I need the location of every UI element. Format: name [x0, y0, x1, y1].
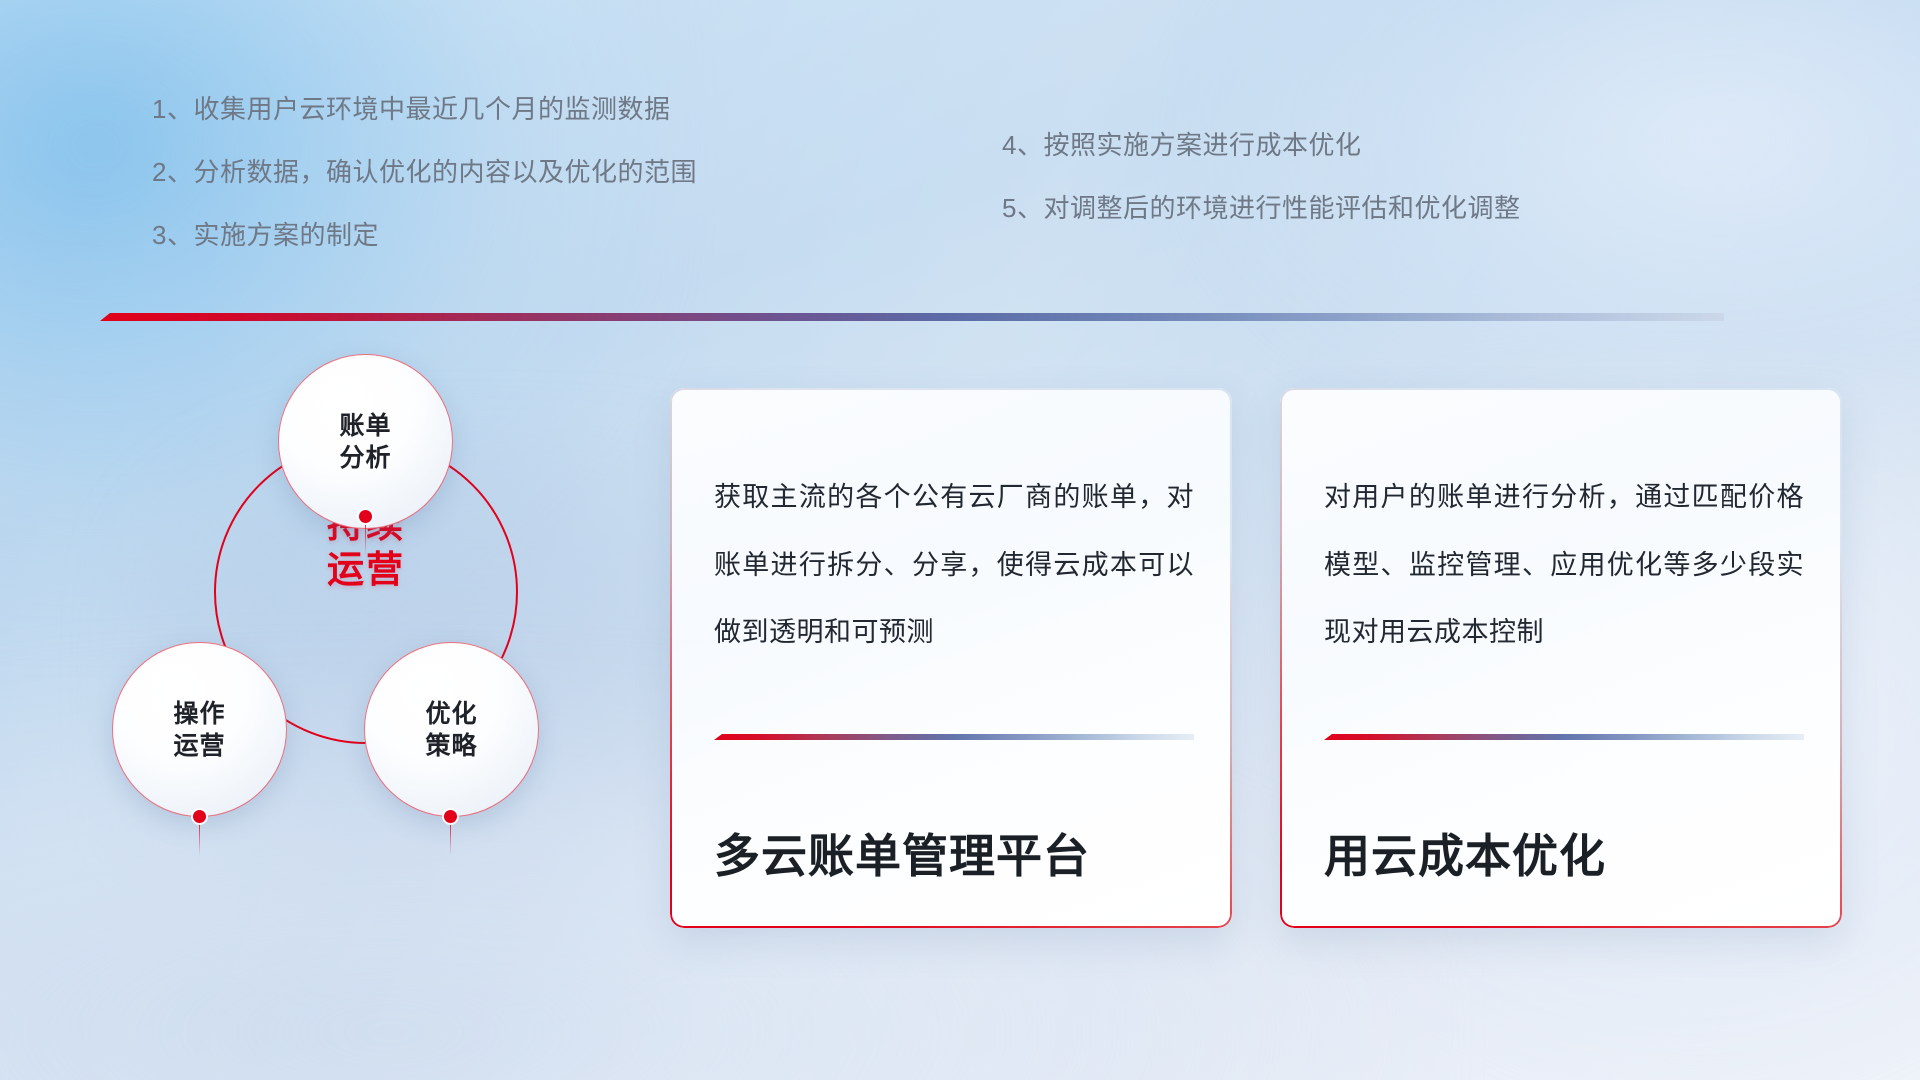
- diagram-node-operations-line-1: 操作: [173, 698, 225, 730]
- diagram-node-optimization-strategy[interactable]: 优化 策略: [364, 642, 539, 817]
- diagram-dot-top: [359, 510, 372, 523]
- step-item-2: 2、分析数据，确认优化的内容以及优化的范围: [152, 159, 697, 185]
- feature-card-1-description: 获取主流的各个公有云厂商的账单，对账单进行拆分、分享，使得云成本可以做到透明和可…: [714, 464, 1194, 667]
- diagram-node-optimization-strategy-line-2: 策略: [425, 730, 477, 762]
- diagram-node-bill-analysis-line-1: 账单: [339, 410, 391, 442]
- step-item-1: 1、收集用户云环境中最近几个月的监测数据: [152, 96, 697, 122]
- diagram-node-bill-analysis[interactable]: 账单 分析: [278, 354, 453, 529]
- feature-card-2-rule-bar: [1324, 734, 1804, 740]
- diagram-connector-left: [199, 822, 200, 856]
- feature-card-1-title: 多云账单管理平台: [714, 820, 1208, 886]
- feature-card-1-rule-bar: [714, 734, 1194, 740]
- step-item-5: 5、对调整后的环境进行性能评估和优化调整: [1002, 195, 1520, 221]
- diagram-dot-left: [193, 810, 206, 823]
- steps-left-column: 1、收集用户云环境中最近几个月的监测数据 2、分析数据，确认优化的内容以及优化的…: [152, 96, 697, 285]
- cycle-diagram: 持续 运营 账单 分析 操作 运营 优化 策略: [96, 352, 636, 932]
- step-item-4: 4、按照实施方案进行成本优化: [1002, 132, 1520, 158]
- steps-right-column: 4、按照实施方案进行成本优化 5、对调整后的环境进行性能评估和优化调整: [1002, 132, 1520, 258]
- diagram-node-operations-line-2: 运营: [173, 730, 225, 762]
- section-divider-bar: [100, 313, 1724, 321]
- feature-card-cloud-cost-optimization[interactable]: 对用户的账单进行分析，通过匹配价格模型、监控管理、应用优化等多少段实现对用云成本…: [1280, 388, 1842, 928]
- diagram-node-optimization-strategy-line-1: 优化: [425, 698, 477, 730]
- feature-card-2-description: 对用户的账单进行分析，通过匹配价格模型、监控管理、应用优化等多少段实现对用云成本…: [1324, 464, 1804, 667]
- feature-card-multicloud-billing[interactable]: 获取主流的各个公有云厂商的账单，对账单进行拆分、分享，使得云成本可以做到透明和可…: [670, 388, 1232, 928]
- diagram-dot-right: [444, 810, 457, 823]
- diagram-connector-right: [450, 822, 451, 856]
- diagram-node-bill-analysis-line-2: 分析: [339, 442, 391, 474]
- feature-card-1-rule: [714, 734, 1194, 743]
- section-divider: [100, 313, 1724, 325]
- diagram-connector-top: [365, 522, 366, 556]
- diagram-node-operations[interactable]: 操作 运营: [112, 642, 287, 817]
- slide-canvas: 1、收集用户云环境中最近几个月的监测数据 2、分析数据，确认优化的内容以及优化的…: [0, 0, 1920, 1080]
- feature-card-2-title: 用云成本优化: [1324, 820, 1818, 886]
- step-item-3: 3、实施方案的制定: [152, 222, 697, 248]
- feature-card-2-rule: [1324, 734, 1804, 743]
